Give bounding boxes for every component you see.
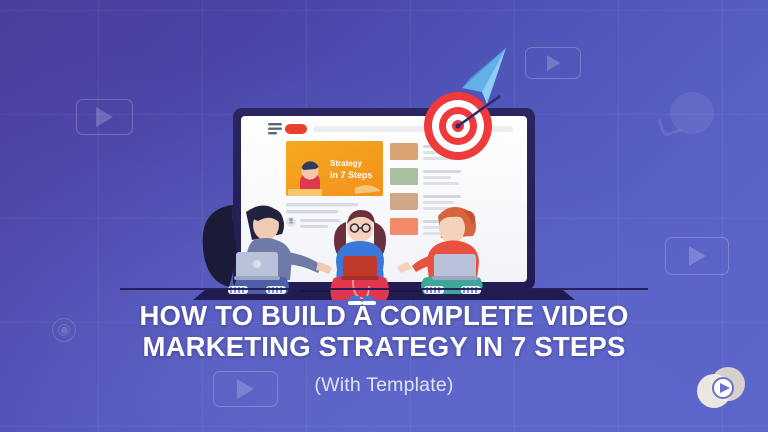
poster-canvas: Strategy in 7 Steps [0, 0, 768, 432]
headline-subtitle: (With Template) [0, 374, 768, 397]
play-triangle-icon [689, 246, 706, 266]
play-badge-top-right[interactable] [525, 47, 581, 79]
title-divider [120, 288, 648, 290]
play-triangle-icon [547, 55, 560, 71]
play-badge-top-left[interactable] [76, 99, 133, 135]
svg-text:Strategy: Strategy [330, 159, 363, 168]
screen-video-thumbnail: Strategy in 7 Steps [286, 141, 383, 196]
headline-line-2: MARKETING STRATEGY IN 7 STEPS [0, 331, 768, 362]
play-triangle-icon [96, 107, 113, 127]
play-badge-mid-right[interactable] [665, 237, 729, 275]
svg-text:in 7 Steps: in 7 Steps [330, 170, 373, 180]
headline-block: HOW TO BUILD A COMPLETE VIDEO MARKETING … [0, 300, 768, 397]
video-brand-logo[interactable] [694, 364, 748, 410]
ghost-balloon-icon [670, 92, 714, 134]
headline-line-1: HOW TO BUILD A COMPLETE VIDEO [0, 300, 768, 331]
